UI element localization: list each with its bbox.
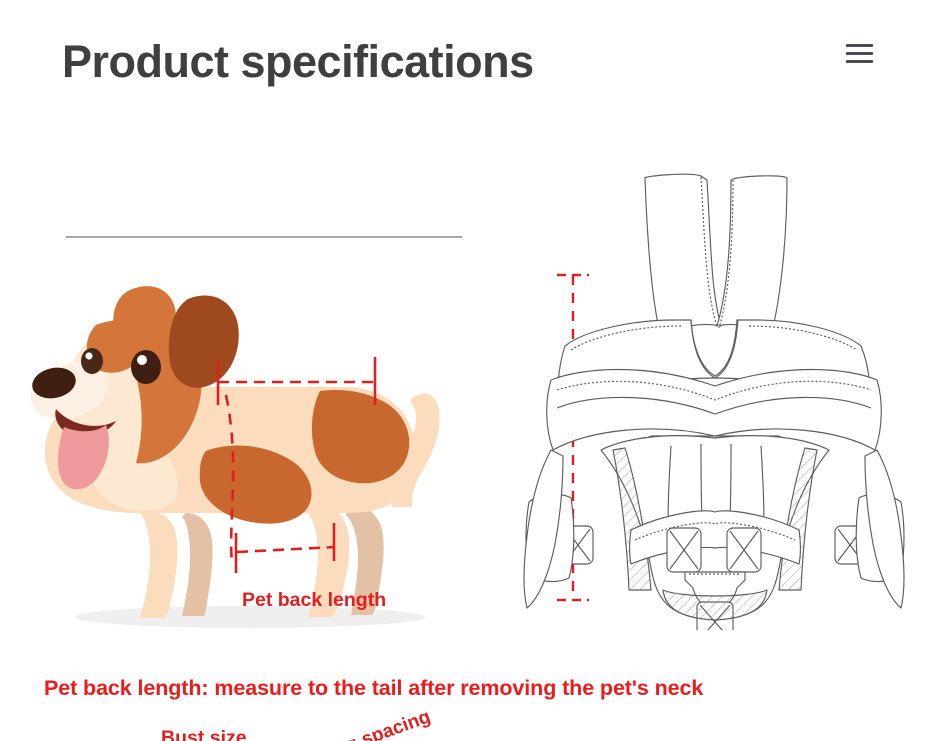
pet-carrier-backpack-line-drawing bbox=[505, 150, 920, 630]
label-pet-back-length: Pet back length bbox=[242, 589, 386, 612]
dog-illustration-panel: Pet back length Bust size Front and rear… bbox=[20, 255, 490, 655]
shoulder-strap-right bbox=[717, 176, 787, 336]
section-divider bbox=[66, 236, 462, 238]
label-bust-size: Bust size bbox=[161, 727, 247, 741]
hamburger-menu-icon[interactable] bbox=[842, 38, 876, 68]
menu-bar-1 bbox=[846, 44, 873, 47]
menu-bar-3 bbox=[846, 60, 873, 63]
dog-eye-near bbox=[131, 350, 161, 384]
footer-caption: Pet back length: measure to the tail aft… bbox=[44, 676, 703, 701]
dog-eye-near-highlight bbox=[137, 355, 147, 365]
menu-bar-2 bbox=[846, 52, 873, 55]
side-wing-left bbox=[524, 450, 563, 608]
dog-eye-far bbox=[81, 348, 103, 374]
backpack-illustration-panel: Product length bbox=[505, 150, 920, 630]
shoulder-strap-left bbox=[645, 174, 721, 338]
product-specifications-page: Product specifications bbox=[0, 0, 938, 741]
page-title: Product specifications bbox=[62, 36, 534, 88]
side-wing-right bbox=[865, 450, 904, 608]
dog-ear-far bbox=[169, 295, 239, 387]
dog-front-leg-far bbox=[182, 513, 213, 616]
dog-back-patch bbox=[312, 390, 409, 483]
dog-front-leg-near bbox=[140, 511, 177, 618]
dog-eye-far-highlight bbox=[85, 352, 92, 359]
